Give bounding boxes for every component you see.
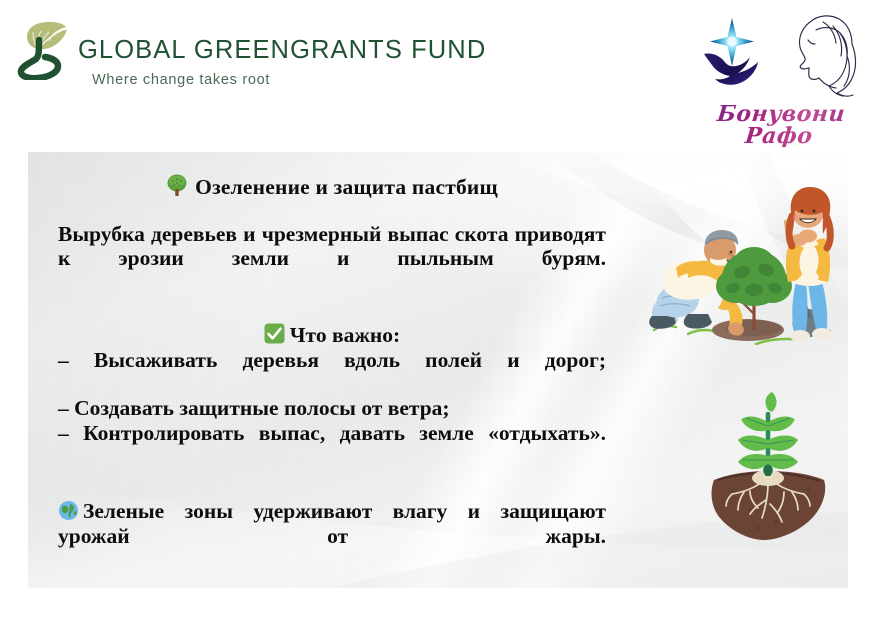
list-item: – Высаживать деревья вдоль полей и дорог… bbox=[58, 348, 606, 397]
conclusion-paragraph: Зеленые зоны удерживают влагу и защищают… bbox=[58, 499, 606, 572]
ggf-wordmark: GLOBAL GREENGRANTS FUND Where change tak… bbox=[78, 38, 486, 87]
conclusion-text: Зеленые зоны удерживают влагу и защищают… bbox=[58, 499, 606, 547]
star-swoosh-woman-profile-emblem-icon bbox=[690, 10, 870, 105]
slide-header: GLOBAL GREENGRANTS FUND Where change tak… bbox=[0, 0, 874, 152]
ggf-tagline: Where change takes root bbox=[78, 73, 486, 88]
white-check-mark-emoji-icon bbox=[264, 323, 285, 344]
global-greengrants-fund-logo: GLOBAL GREENGRANTS FUND Where change tak… bbox=[14, 18, 444, 86]
earth-globe-emoji-icon bbox=[58, 500, 79, 521]
ggf-name: GLOBAL GREENGRANTS FUND bbox=[78, 38, 486, 64]
slide-title-text: Озеленение и защита пастбищ bbox=[195, 175, 498, 199]
subheading-text: Что важно: bbox=[290, 323, 400, 347]
slide-content-panel: Озеленение и защита пастбищ Вырубка дере… bbox=[28, 152, 848, 588]
paragraph-1: Вырубка деревьев и чрезмерный выпас скот… bbox=[58, 222, 606, 295]
leaf-over-g-logomark-icon bbox=[14, 18, 72, 80]
partner-logo: Бонувони Рафо bbox=[690, 10, 870, 142]
list-item: – Контролировать выпас, давать земле «от… bbox=[58, 421, 606, 470]
tree-emoji-icon bbox=[166, 174, 188, 197]
slide-title: Озеленение и защита пастбищ bbox=[58, 174, 606, 200]
bullet-list: – Высаживать деревья вдоль полей и дорог… bbox=[58, 348, 606, 469]
list-item: – Создавать защитные полосы от ветра; bbox=[58, 396, 606, 420]
subheading: Что важно: bbox=[58, 323, 606, 348]
slide-text-column: Озеленение и защита пастбищ Вырубка дере… bbox=[58, 160, 606, 572]
seedling-with-roots-in-soil-illustration bbox=[688, 392, 848, 562]
two-people-planting-tree-illustration bbox=[636, 182, 848, 362]
partner-script-name: Бонувони Рафо bbox=[688, 103, 873, 147]
